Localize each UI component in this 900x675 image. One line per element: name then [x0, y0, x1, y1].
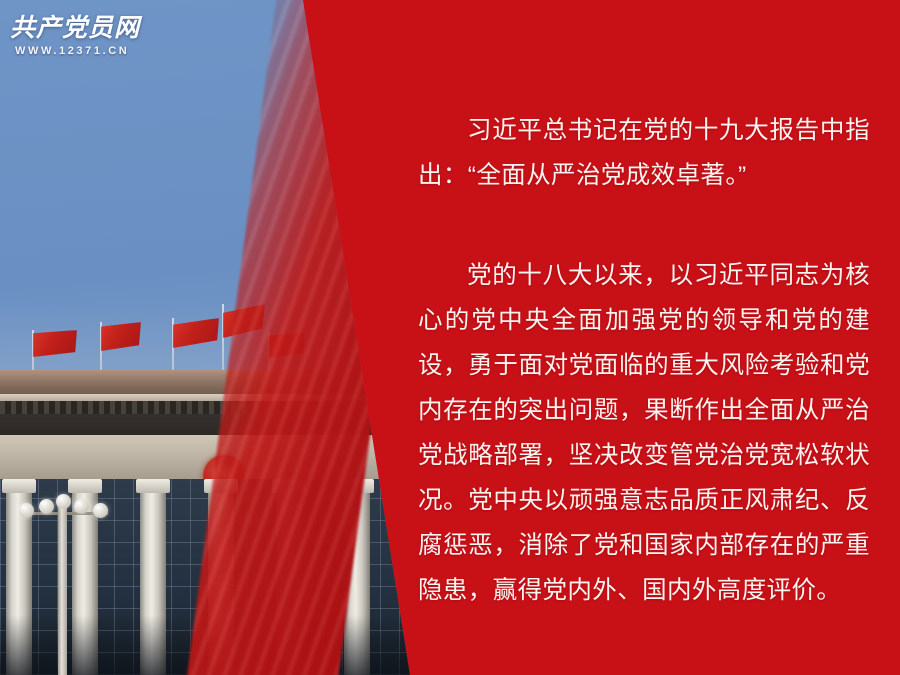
logo-wordmark: 共产党员网: [10, 14, 150, 41]
poster-container: 习近平总书记在党的十九大报告中指出：“全面从严治党成效卓著。” 党的十八大以来，…: [0, 0, 900, 675]
paragraph-2: 党的十八大以来，以习近平同志为核心的党中央全面加强党的领导和党的建设，勇于面对党…: [418, 253, 870, 613]
lamp-globe-icon: [39, 499, 54, 514]
lamp-globe-icon: [19, 503, 34, 518]
lamp-globe-icon: [56, 494, 71, 509]
paragraph-1: 习近平总书记在党的十九大报告中指出：“全面从严治党成效卓著。”: [418, 108, 870, 198]
lamp-post: [58, 500, 67, 675]
logo-url: WWW.12371.CN: [15, 45, 150, 57]
article-text: 习近平总书记在党的十九大报告中指出：“全面从严治党成效卓著。” 党的十八大以来，…: [418, 108, 870, 613]
lamp-globe-icon: [93, 503, 108, 518]
lamp-globe-icon: [74, 499, 89, 514]
site-logo[interactable]: 共产党员网 WWW.12371.CN: [10, 14, 150, 57]
